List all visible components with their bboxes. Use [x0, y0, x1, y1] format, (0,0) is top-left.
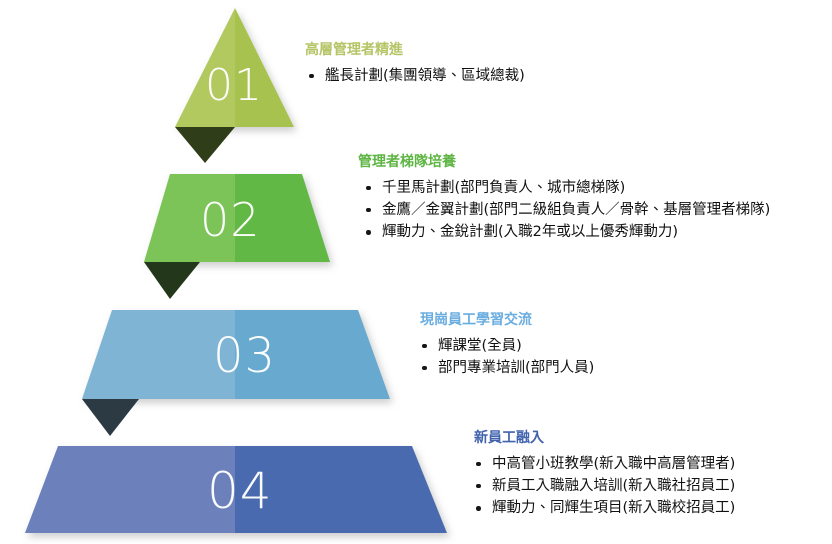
tier-2-text-block: 管理者梯隊培養 千里馬計劃(部門負責人、城市總梯隊) 金鷹／金翼計劃(部門二級組… [362, 154, 770, 244]
tier-3-text-block: 現崗員工學習交流 輝課堂(全員) 部門專業培訓(部門人員) [418, 312, 594, 379]
list-item: 輝課堂(全員) [418, 335, 594, 357]
list-item: 艦長計劃(集團領導、區域總裁) [305, 65, 525, 87]
list-item: 新員工入職融入培訓(新入職社招員工) [472, 475, 735, 497]
list-item: 輝動力、同輝生項目(新入職校招員工) [472, 497, 735, 519]
tier-1-fold [175, 127, 235, 163]
tier-4-left-face [25, 446, 235, 533]
tier-3-fold [82, 399, 139, 436]
tier-2-bullet-list: 千里馬計劃(部門負責人、城市總梯隊) 金鷹／金翼計劃(部門二級組負責人／骨幹、基… [362, 177, 770, 244]
tier-4-bullet-list: 中高管小班教學(新入職中高層管理者) 新員工入職融入培訓(新入職社招員工) 輝動… [472, 453, 735, 520]
tier-3-bullet-list: 輝課堂(全員) 部門專業培訓(部門人員) [418, 335, 594, 380]
tier-4-number: 04 [207, 466, 273, 516]
tier-3-heading: 現崗員工學習交流 [420, 312, 594, 330]
tier-1-heading: 高層管理者精進 [305, 42, 525, 60]
tier-4-text-block: 新員工融入 中高管小班教學(新入職中高層管理者) 新員工入職融入培訓(新入職社招… [472, 430, 735, 520]
list-item: 中高管小班教學(新入職中高層管理者) [472, 453, 735, 475]
tier-1-number: 01 [205, 64, 263, 108]
tier-2-number: 02 [200, 197, 261, 243]
list-item: 金鷹／金翼計劃(部門二級組負責人／骨幹、基層管理者梯隊) [362, 199, 770, 221]
tier-2-heading: 管理者梯隊培養 [358, 154, 770, 172]
tier-2-fold [144, 262, 200, 299]
training-pyramid-diagram: 01 02 03 04 高層管理者精進 艦長計劃(集團領導、區域總裁) 管理者梯… [0, 0, 832, 544]
tier-1-text-block: 高層管理者精進 艦長計劃(集團領導、區域總裁) [305, 42, 525, 87]
list-item: 部門專業培訓(部門人員) [418, 357, 594, 379]
tier-1-bullet-list: 艦長計劃(集團領導、區域總裁) [305, 65, 525, 87]
list-item: 千里馬計劃(部門負責人、城市總梯隊) [362, 177, 770, 199]
tier-4-heading: 新員工融入 [474, 430, 735, 448]
list-item: 輝動力、金銳計劃(入職2年或以上優秀輝動力) [362, 221, 770, 243]
tier-3-number: 03 [213, 332, 276, 380]
